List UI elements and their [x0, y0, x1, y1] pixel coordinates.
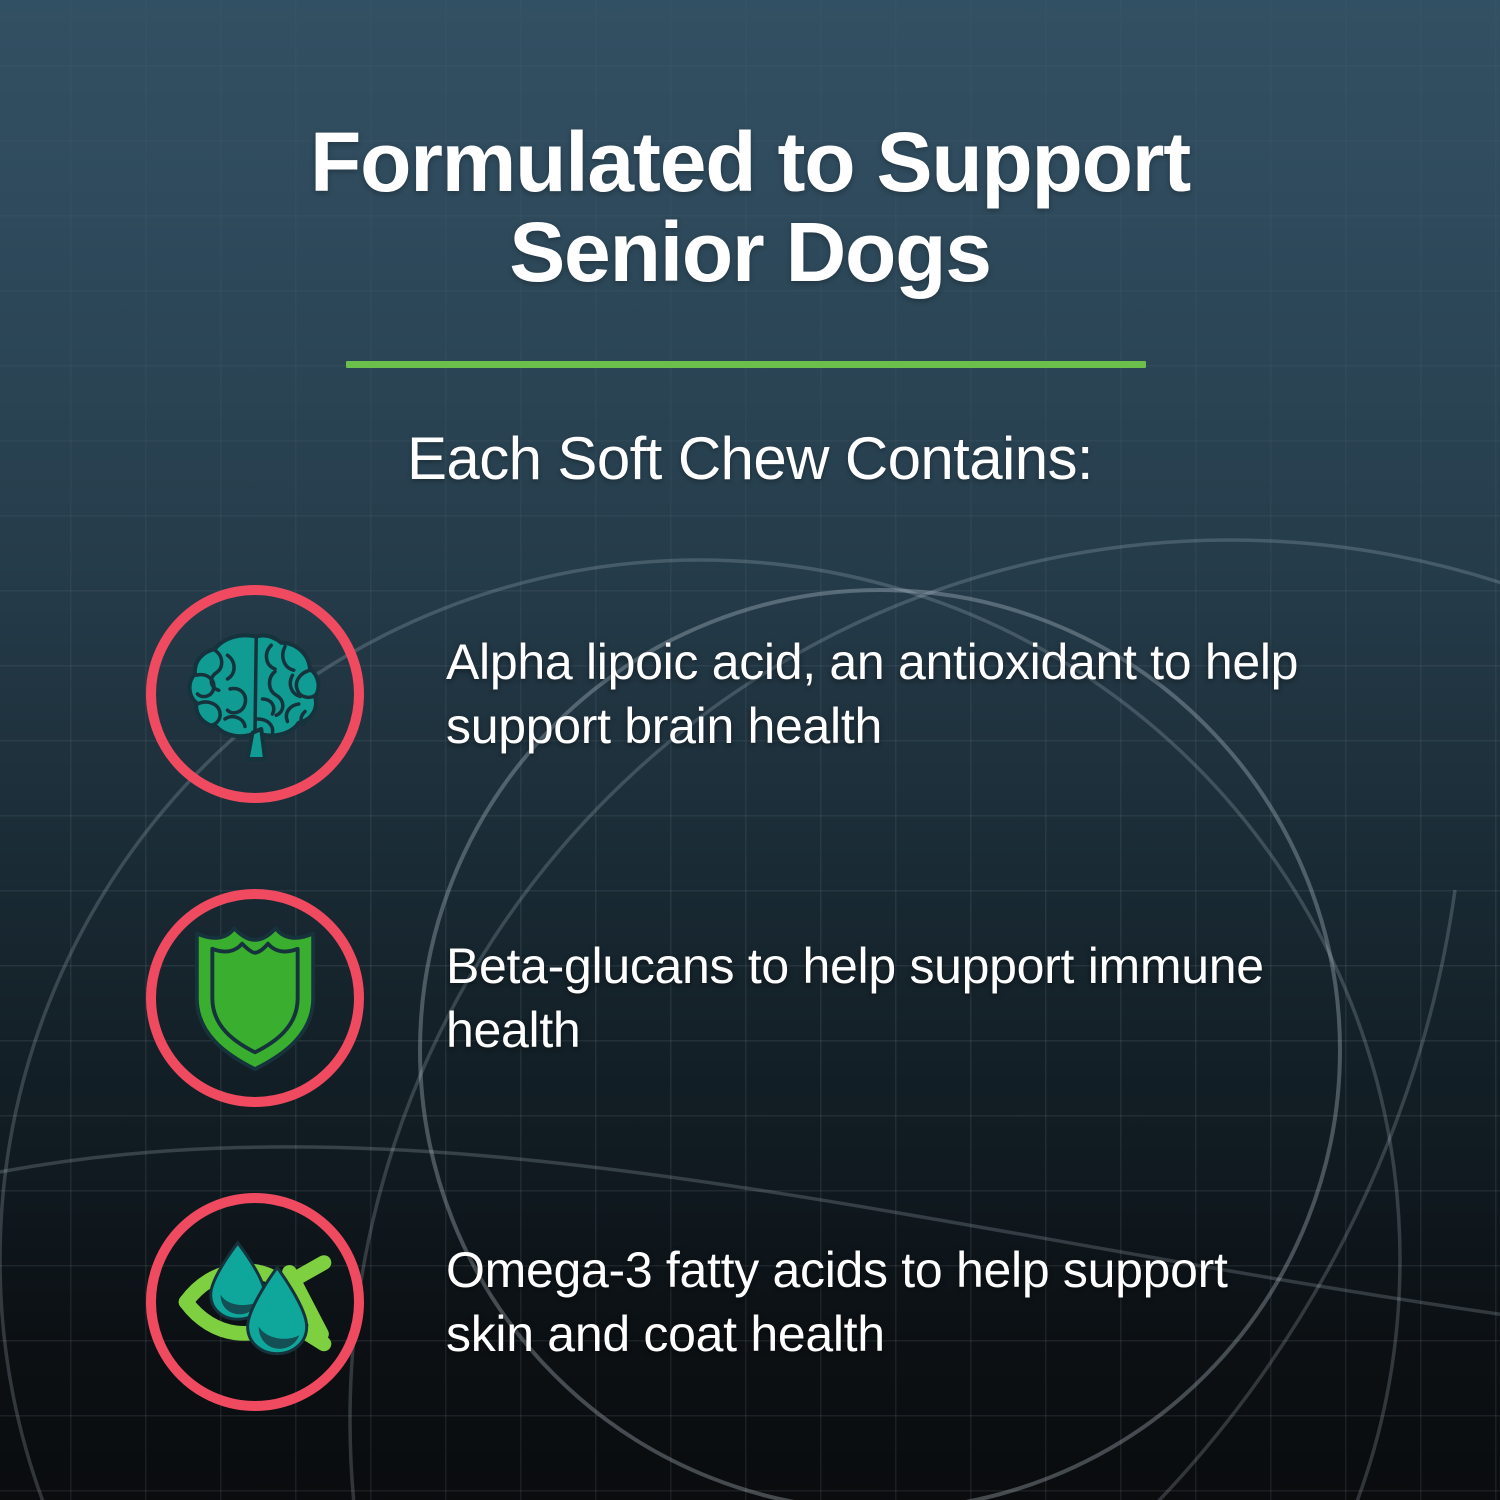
benefit-row: Alpha lipoic acid, an antioxidant to hel…: [0, 578, 1500, 810]
title-line-1: Formulated to Support: [310, 115, 1190, 209]
benefit-icon-badge: [146, 585, 364, 803]
green-divider: [346, 361, 1146, 368]
benefit-text: Beta-glucans to help support immune heal…: [446, 934, 1326, 1062]
brain-icon: [180, 619, 330, 769]
infographic-poster: Formulated to Support Senior Dogs Each S…: [0, 0, 1500, 1500]
fish-oil-icon: [176, 1238, 334, 1366]
benefit-icon-badge: [146, 1193, 364, 1411]
benefits-list: Alpha lipoic acid, an antioxidant to hel…: [0, 578, 1500, 1490]
benefit-row: Omega-3 fatty acids to help support skin…: [0, 1186, 1500, 1418]
divider-container: [346, 361, 1146, 368]
shield-icon: [187, 923, 323, 1073]
title-line-2: Senior Dogs: [509, 205, 991, 299]
benefit-row: Beta-glucans to help support immune heal…: [0, 882, 1500, 1114]
benefit-text: Omega-3 fatty acids to help support skin…: [446, 1238, 1326, 1366]
header: Formulated to Support Senior Dogs: [0, 118, 1500, 298]
benefit-text: Alpha lipoic acid, an antioxidant to hel…: [446, 630, 1326, 758]
subtitle: Each Soft Chew Contains:: [0, 424, 1500, 493]
benefit-icon-badge: [146, 889, 364, 1107]
page-title: Formulated to Support Senior Dogs: [250, 118, 1250, 298]
